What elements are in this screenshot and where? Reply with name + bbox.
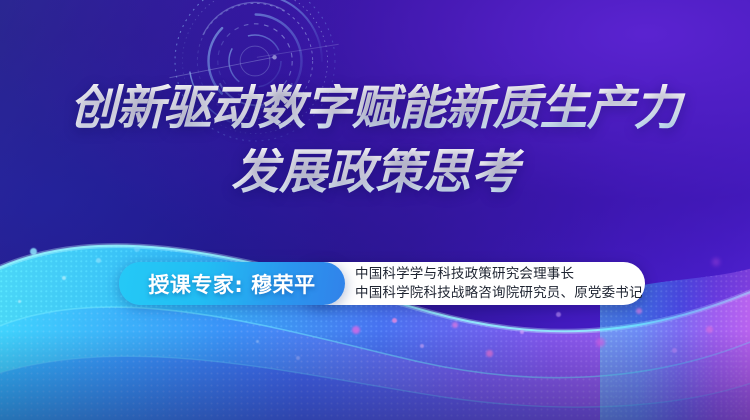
credential-line-1: 中国科学学与科技政策研究会理事长 (355, 265, 643, 284)
speaker-bar: 授课专家: 穆荣平 中国科学学与科技政策研究会理事长 中国科学院科技战略咨询院研… (119, 262, 345, 305)
title-line-2: 发展政策思考 (0, 148, 750, 196)
promo-banner: 创新驱动数字赋能新质生产力 发展政策思考 授课专家: 穆荣平 中国科学学与科技政… (0, 0, 750, 420)
banner-title: 创新驱动数字赋能新质生产力 发展政策思考 (0, 84, 750, 196)
speaker-badge: 授课专家: 穆荣平 (119, 262, 345, 305)
credential-line-2: 中国科学院科技战略咨询院研究员、原党委书记 (355, 284, 643, 303)
speaker-badge-label: 授课专家: 穆荣平 (148, 269, 315, 299)
title-line-1: 创新驱动数字赋能新质生产力 (0, 84, 750, 132)
credentials-list: 中国科学学与科技政策研究会理事长 中国科学院科技战略咨询院研究员、原党委书记 (355, 262, 643, 305)
